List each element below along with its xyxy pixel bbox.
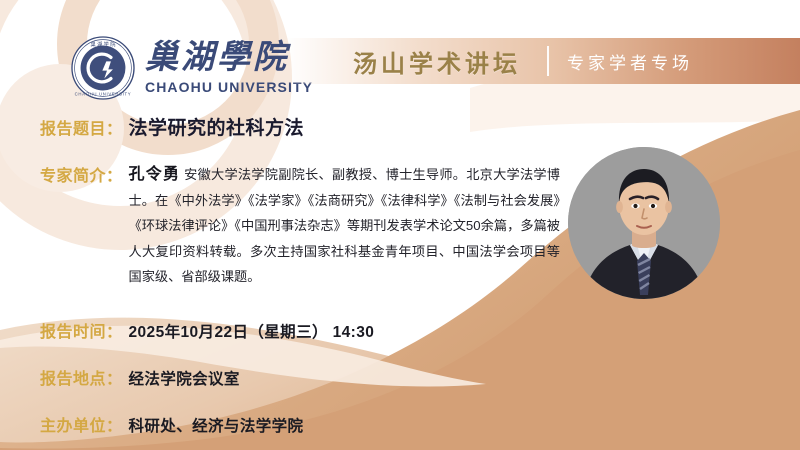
banner-subtitle: 专家学者专场 bbox=[567, 49, 693, 74]
organizer-label: 主办单位： bbox=[40, 412, 123, 436]
place-value: 经法学院会议室 bbox=[129, 367, 240, 389]
topic-label: 报告题目： bbox=[40, 115, 123, 139]
expert-bio-text: 安徽大学法学院副院长、副教授、博士生导师。北京大学法学博士。在《中外法学》《法学… bbox=[129, 167, 560, 284]
banner-divider bbox=[547, 46, 549, 76]
expert-bio-row: 专家简介： 孔令勇 安徽大学法学院副院长、副教授、博士生导师。北京大学法学博士。… bbox=[40, 162, 560, 290]
expert-name: 孔令勇 bbox=[129, 166, 181, 183]
svg-text:CHAOHU UNIVERSITY: CHAOHU UNIVERSITY bbox=[75, 92, 132, 97]
time-row: 报告时间： 2025年10月22日（星期三） 14:30 bbox=[40, 318, 374, 342]
forum-banner: 汤山学术讲坛 专家学者专场 bbox=[285, 38, 800, 84]
expert-bio-body: 孔令勇 安徽大学法学院副院长、副教授、博士生导师。北京大学法学博士。在《中外法学… bbox=[129, 162, 560, 290]
university-logo: 巢 湖 学 院 CHAOHU UNIVERSITY 巢湖學院 CHAOHU UN… bbox=[70, 35, 313, 101]
organizer-value: 科研处、经济与法学学院 bbox=[129, 414, 304, 436]
poster-content: 报告题目： 法学研究的社科方法 专家简介： 孔令勇 安徽大学法学院副院长、副教授… bbox=[40, 113, 560, 290]
place-row: 报告地点： 经法学院会议室 bbox=[40, 365, 374, 389]
expert-portrait bbox=[568, 147, 720, 299]
expert-portrait-photo bbox=[568, 147, 720, 299]
topic-value: 法学研究的社科方法 bbox=[129, 113, 305, 140]
place-label: 报告地点： bbox=[40, 365, 123, 389]
seminar-poster: 巢 湖 学 院 CHAOHU UNIVERSITY 巢湖學院 CHAOHU UN… bbox=[0, 0, 800, 450]
university-seal-icon: 巢 湖 学 院 CHAOHU UNIVERSITY bbox=[70, 35, 136, 101]
expert-label: 专家简介： bbox=[40, 162, 123, 186]
time-label: 报告时间： bbox=[40, 318, 123, 342]
event-details: 报告时间： 2025年10月22日（星期三） 14:30 报告地点： 经法学院会… bbox=[40, 318, 374, 450]
organizer-row: 主办单位： 科研处、经济与法学学院 bbox=[40, 412, 374, 436]
topic-row: 报告题目： 法学研究的社科方法 bbox=[40, 113, 560, 140]
banner-main-title: 汤山学术讲坛 bbox=[353, 44, 521, 79]
time-value: 2025年10月22日（星期三） 14:30 bbox=[129, 320, 375, 342]
